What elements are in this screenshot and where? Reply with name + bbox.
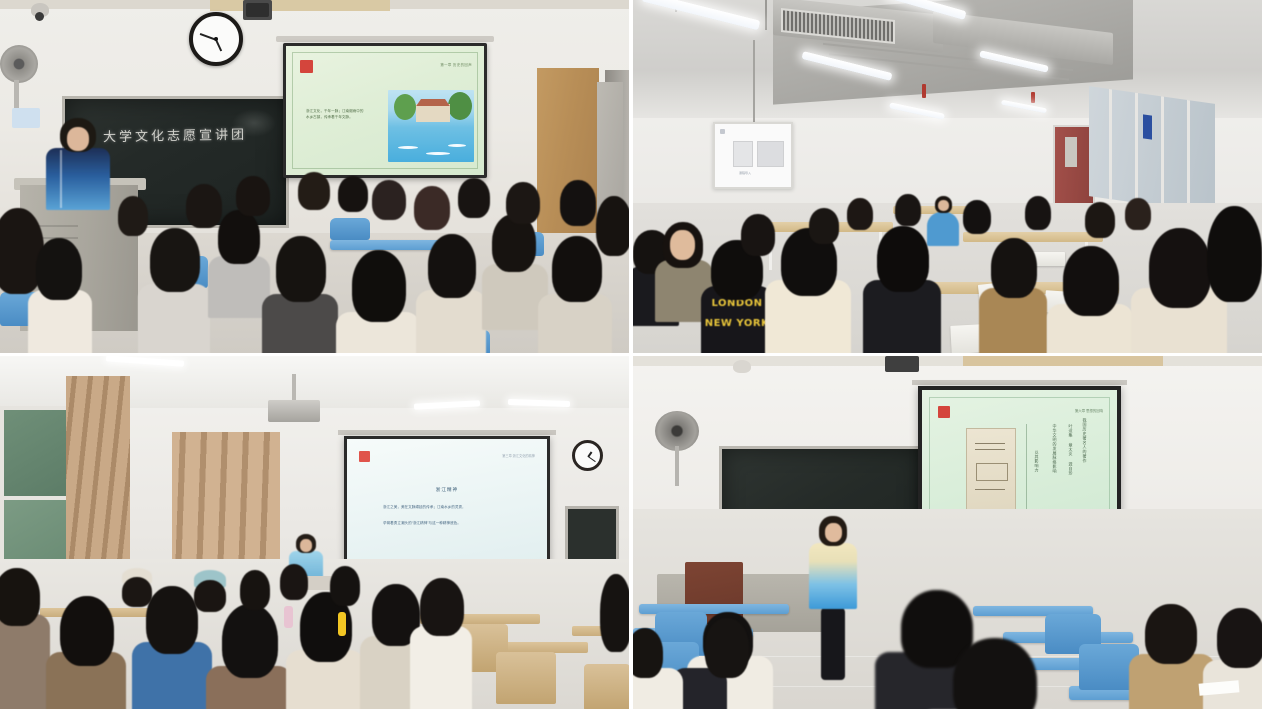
slide-image-left — [733, 141, 753, 167]
student-chair — [584, 664, 629, 709]
ceiling-trim — [633, 356, 1262, 366]
wall-fan-icon — [655, 411, 699, 451]
fan-pole — [675, 446, 679, 486]
sprinkler-icon — [922, 84, 926, 98]
red-seal-icon — [300, 60, 313, 73]
projection-screen[interactable]: 第三章 浙江文化的精神 浙江精神 浙江之美，美在文脉绵延的传承；江南水乡的灵秀，… — [344, 436, 550, 564]
security-camera-icon — [31, 3, 49, 17]
slide-caption: 课程导入 — [739, 171, 751, 175]
slide-image-right — [757, 141, 784, 167]
window-bank — [1089, 86, 1215, 214]
red-seal-icon — [359, 451, 370, 462]
dome-camera-icon — [733, 360, 751, 373]
slide-header: 第一章 历史的回声 — [440, 62, 472, 67]
wall-fan-icon — [0, 45, 38, 83]
sprinkler-icon — [1031, 92, 1035, 103]
panel-top-right-studio-classroom[interactable]: 课程导入 — [633, 0, 1262, 353]
student-chair — [496, 652, 556, 704]
wall-sign — [1143, 114, 1152, 139]
projection-screen[interactable]: 课程导入 — [713, 122, 793, 189]
study-table — [963, 232, 1103, 242]
wall-clock — [189, 12, 243, 66]
panel-top-left-lecture-hall[interactable]: 大学文化志愿宣讲团 第一章 历史的回声 浙江文化，千年一脉；江南烟雨中的水乡古镇… — [0, 0, 629, 353]
ceiling-projector — [268, 400, 320, 422]
slide-body-line1: 浙江之美，美在文脉绵延的传承；江南水乡的灵秀， — [383, 503, 513, 511]
screen-mount-rod — [276, 36, 494, 42]
wood-beam — [210, 0, 390, 11]
wall-clock — [572, 440, 603, 471]
photo-collage-grid: 大学文化志愿宣讲团 第一章 历史的回声 浙江文化，千年一脉；江南烟雨中的水乡古镇… — [0, 0, 1262, 710]
blackboard-chalk-text: 大学文化志愿宣讲团 — [103, 124, 247, 146]
slide-body-line2: 孕育着勇立潮头的“浙江精神”与这一种精神底色。 — [383, 519, 513, 527]
slide-body-text: 浙江文化，千年一脉；江南烟雨中的水乡古镇，传承着千年文脉。 — [306, 108, 364, 120]
panel-bottom-right-blackboard-classroom[interactable]: 第六章 思想的回响 我国历史著名人的著作 叶适集 章太炎 龚自珍 中华文明的发展… — [633, 356, 1262, 709]
slide-illustration — [388, 90, 474, 162]
wall-notice — [12, 108, 40, 128]
slide-content: 第一章 历史的回声 浙江文化，千年一脉；江南烟雨中的水乡古镇，传承着千年文脉。 — [286, 46, 484, 175]
jacket-text-newyork: NEW YORK — [701, 318, 773, 329]
red-seal-icon — [720, 129, 725, 134]
wall-speaker-icon — [243, 0, 272, 20]
slide-header: 第三章 浙江文化的精神 — [502, 453, 535, 458]
screen-mount-rod — [338, 430, 556, 435]
wood-beam — [963, 356, 1163, 366]
juice-bottle — [338, 612, 346, 636]
screen-mount-rod — [912, 380, 1127, 385]
slide-title: 浙江精神 — [347, 487, 547, 493]
student-chair — [330, 218, 370, 240]
slide-vertical-line-4: 以其影响力 — [1034, 450, 1040, 510]
wall-speaker-icon — [885, 356, 919, 372]
water-bottle — [284, 606, 293, 628]
red-seal-icon — [938, 406, 950, 418]
panel-bottom-left-curtain-classroom[interactable]: 第三章 浙江文化的精神 浙江精神 浙江之美，美在文脉绵延的传承；江南水乡的灵秀，… — [0, 356, 629, 709]
slide-header: 第六章 思想的回响 — [1075, 408, 1103, 413]
projector-mount — [292, 374, 296, 402]
slide-content: 第三章 浙江文化的精神 浙江精神 浙江之美，美在文脉绵延的传承；江南水乡的灵秀，… — [347, 439, 547, 561]
projection-screen[interactable]: 第一章 历史的回声 浙江文化，千年一脉；江南烟雨中的水乡古镇，传承着千年文脉。 — [283, 43, 487, 178]
